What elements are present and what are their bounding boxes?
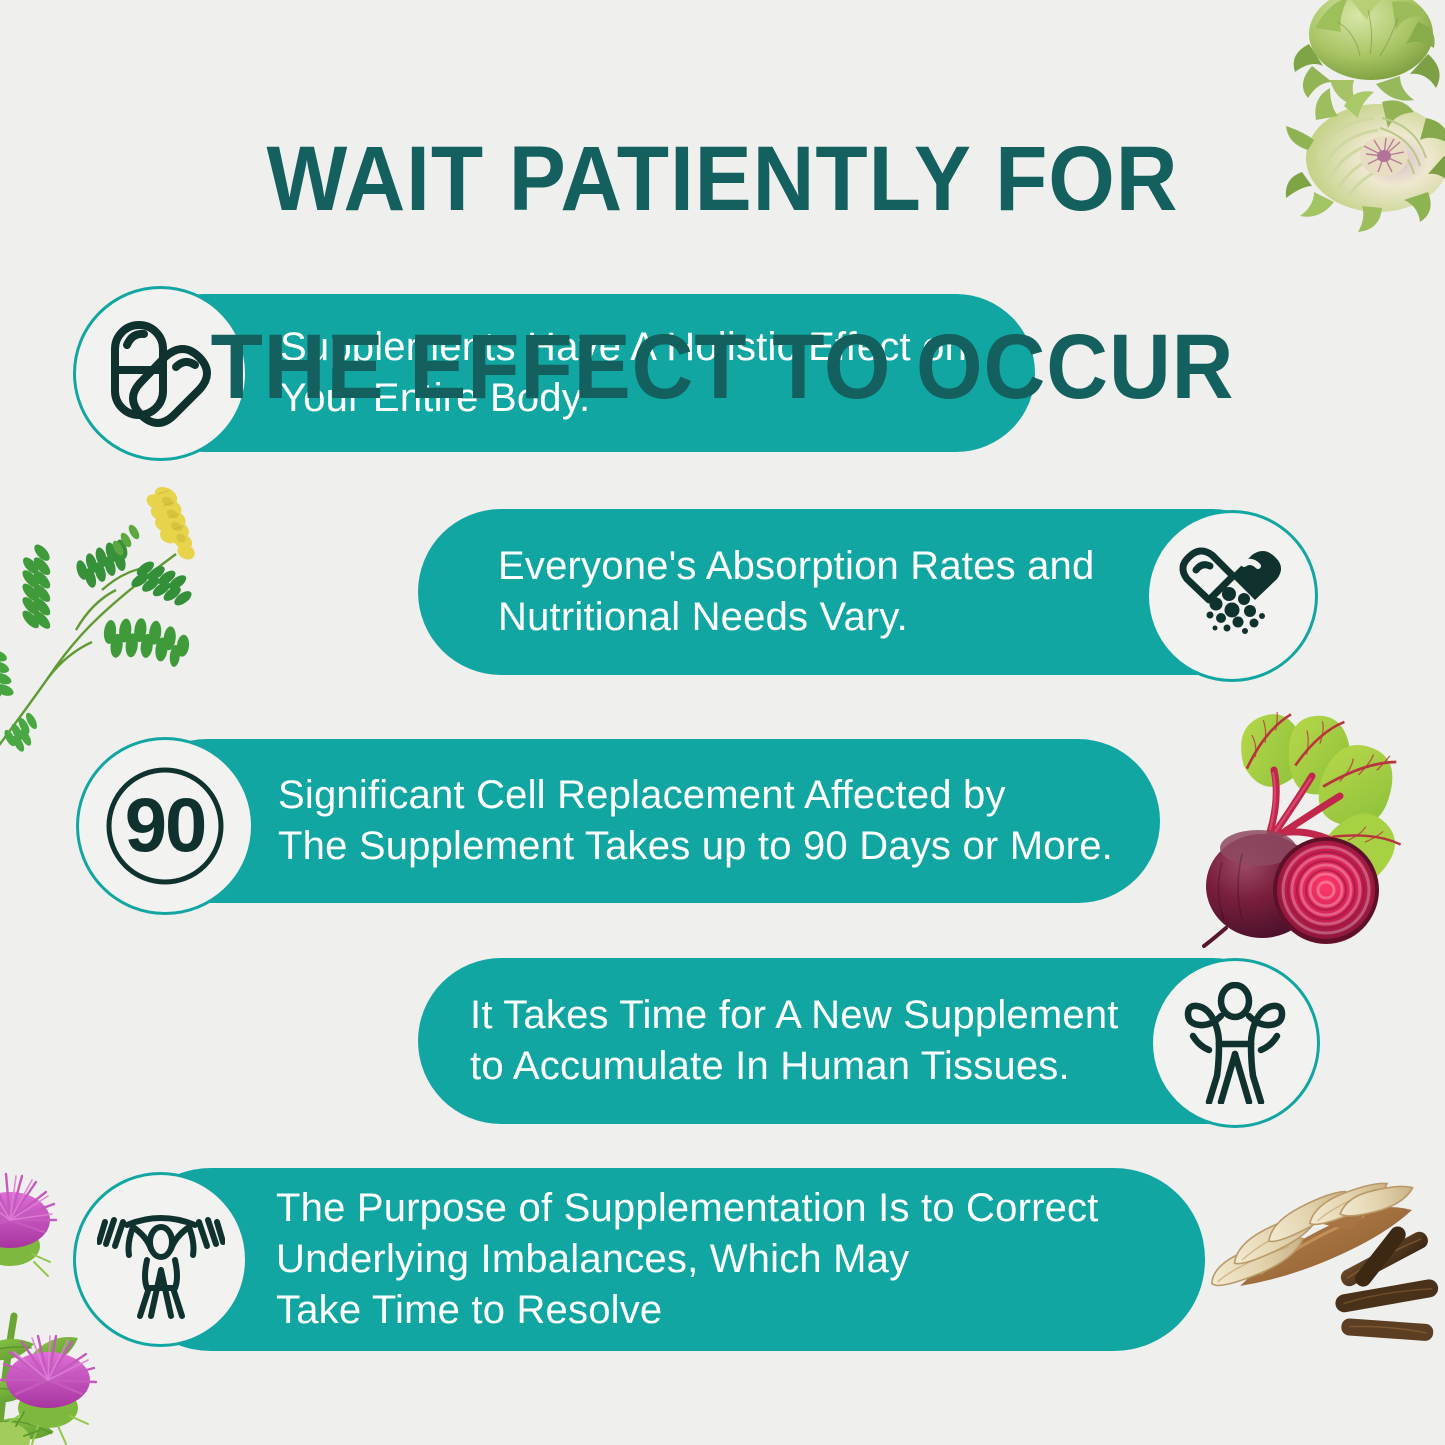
info-pill-correct-imbalances[interactable]: The Purpose of Supplementation Is to Cor… [120, 1168, 1205, 1351]
page-title-line-1: WAIT PATIENTLY FOR [51, 132, 1395, 226]
page-title: WAIT PATIENTLY FOR THE EFFECT TO OCCUR [51, 38, 1395, 508]
page-title-line-2: THE EFFECT TO OCCUR [51, 320, 1395, 414]
info-text-correct-imbalances: The Purpose of Supplementation Is to Cor… [276, 1183, 1099, 1336]
infographic-canvas: WAIT PATIENTLY FOR THE EFFECT TO OCCUR S… [0, 0, 1445, 1445]
person-lifting-barbell-icon [97, 1200, 225, 1320]
person-lifting-barbell-icon-badge[interactable] [73, 1172, 248, 1347]
